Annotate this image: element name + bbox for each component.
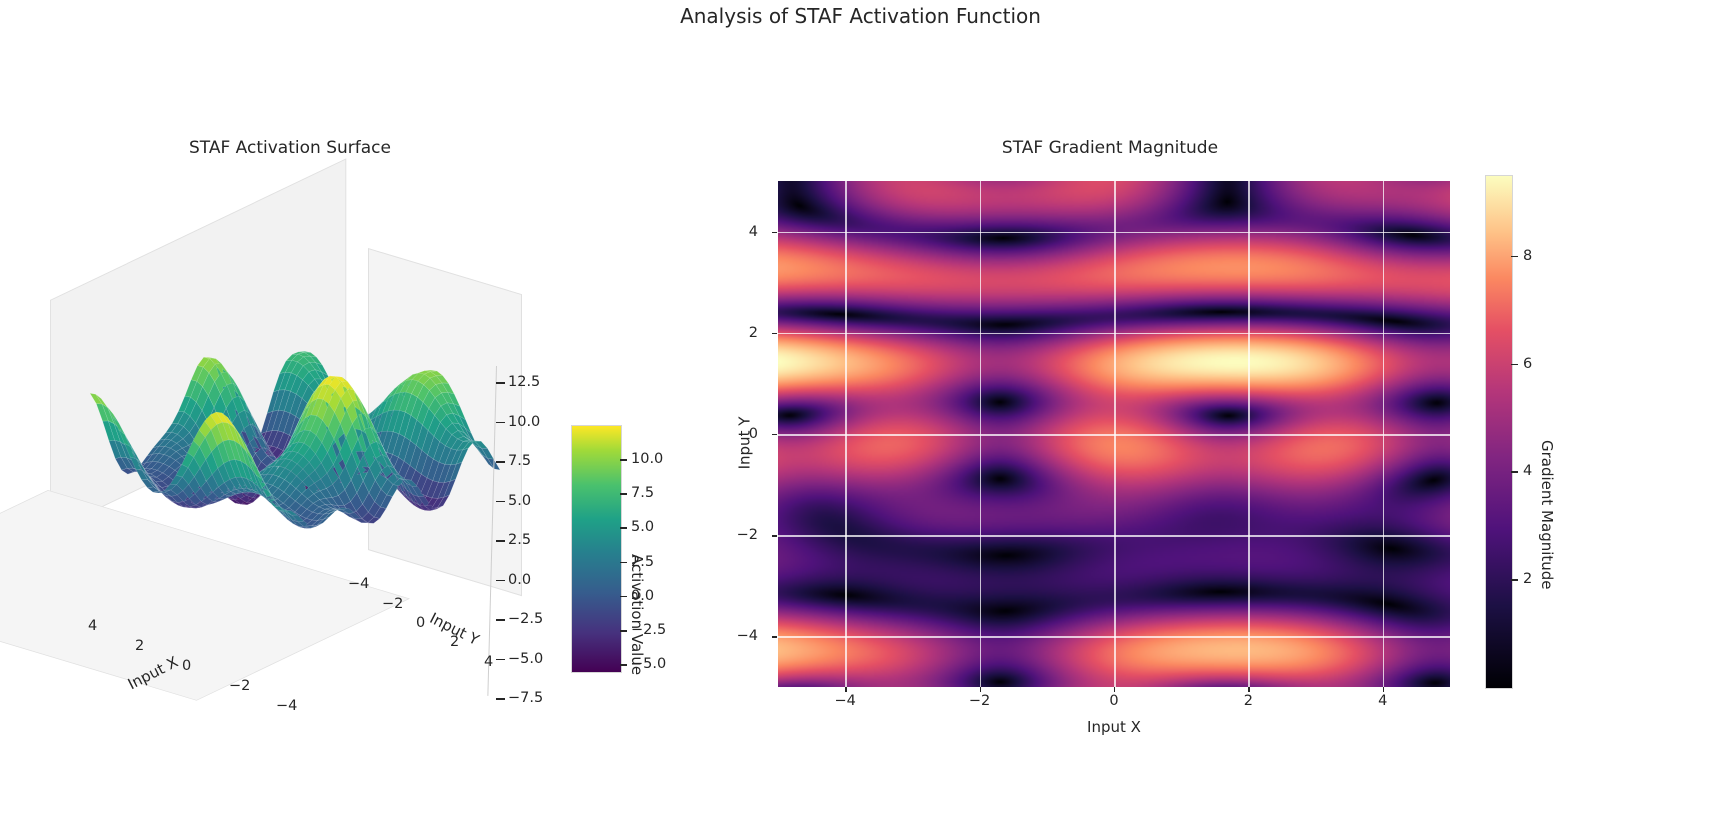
heatmap-title: STAF Gradient Magnitude [770, 138, 1450, 158]
surface-plot-title: STAF Activation Surface [20, 138, 560, 158]
colorbar-tick-label: 7.5 [631, 485, 654, 501]
heatmap-x-label: Input X [778, 718, 1450, 736]
figure-suptitle: Analysis of STAF Activation Function [0, 4, 1721, 28]
z-tick-label: −5.0 [508, 651, 543, 667]
gradient-colorbar-tick-label: 6 [1523, 356, 1532, 372]
heatmap-x-tick-label: −2 [969, 693, 990, 709]
heatmap-y-tick-label: 4 [749, 224, 758, 240]
heatmap-gridline-h [778, 535, 1450, 537]
z-tick-label: 0.0 [508, 572, 531, 588]
y-tick-label: −2 [382, 596, 403, 612]
gradient-colorbar [1485, 175, 1513, 689]
gradient-heatmap [778, 181, 1450, 687]
activation-surface [30, 280, 500, 610]
colorbar-tick-label: 10.0 [631, 451, 663, 467]
heatmap-gridline-h [778, 434, 1450, 436]
heatmap-y-tick-label: −4 [737, 628, 758, 644]
activation-colorbar-label: Activation Value [628, 554, 646, 675]
z-tick-label: 5.0 [508, 493, 531, 509]
x-tick-label: 2 [135, 638, 144, 654]
gradient-colorbar-tick-label: 2 [1523, 571, 1532, 587]
gradient-colorbar-tick-label: 4 [1523, 463, 1532, 479]
y-tick-label: 4 [484, 654, 493, 670]
gradient-colorbar-tick-label: 8 [1523, 248, 1532, 264]
y-tick-label: 0 [416, 615, 425, 631]
x-tick-label: 4 [88, 618, 97, 634]
heatmap-gridline-h [778, 636, 1450, 638]
z-tick-label: 12.5 [508, 374, 540, 390]
heatmap-gridline-h [778, 232, 1450, 234]
z-tick-label: 7.5 [508, 453, 531, 469]
figure-canvas: Analysis of STAF Activation Function STA… [0, 0, 1721, 814]
activation-colorbar [571, 425, 622, 673]
x-tick-label: −2 [229, 678, 250, 694]
gradient-colorbar-group: 8642 Gradient Magnitude [1485, 175, 1635, 695]
colorbar-tick-label: 5.0 [631, 519, 654, 535]
z-tick-label: −2.5 [508, 611, 543, 627]
heatmap-x-tick-label: −4 [835, 693, 856, 709]
heatmap-gridline-h [778, 333, 1450, 335]
z-tick-label: 2.5 [508, 532, 531, 548]
z-tick-label: −7.5 [508, 690, 543, 706]
x-tick-label: 0 [182, 658, 191, 674]
heatmap-y-label: Input Y [735, 417, 753, 470]
heatmap-y-tick-label: −2 [737, 527, 758, 543]
z-tick-label: 10.0 [508, 414, 540, 430]
surface-plot-panel: STAF Activation Surface [20, 120, 710, 740]
gradient-heatmap-panel: STAF Gradient Magnitude −4−2024 420−2−4 … [770, 120, 1710, 740]
heatmap-x-tick-label: 4 [1378, 693, 1387, 709]
y-tick-label: −4 [348, 576, 369, 592]
surface-axes: 12.510.07.55.02.50.0−2.5−5.0−7.5 Activat… [30, 190, 550, 710]
heatmap-y-tick-label: 2 [749, 325, 758, 341]
heatmap-x-tick-label: 0 [1109, 693, 1118, 709]
gradient-colorbar-label: Gradient Magnitude [1538, 440, 1556, 590]
heatmap-x-tick-label: 2 [1244, 693, 1253, 709]
activation-colorbar-group: 10.07.55.02.50.0−2.5−5.0 Activation Valu… [571, 425, 691, 680]
x-tick-label: −4 [276, 698, 297, 714]
